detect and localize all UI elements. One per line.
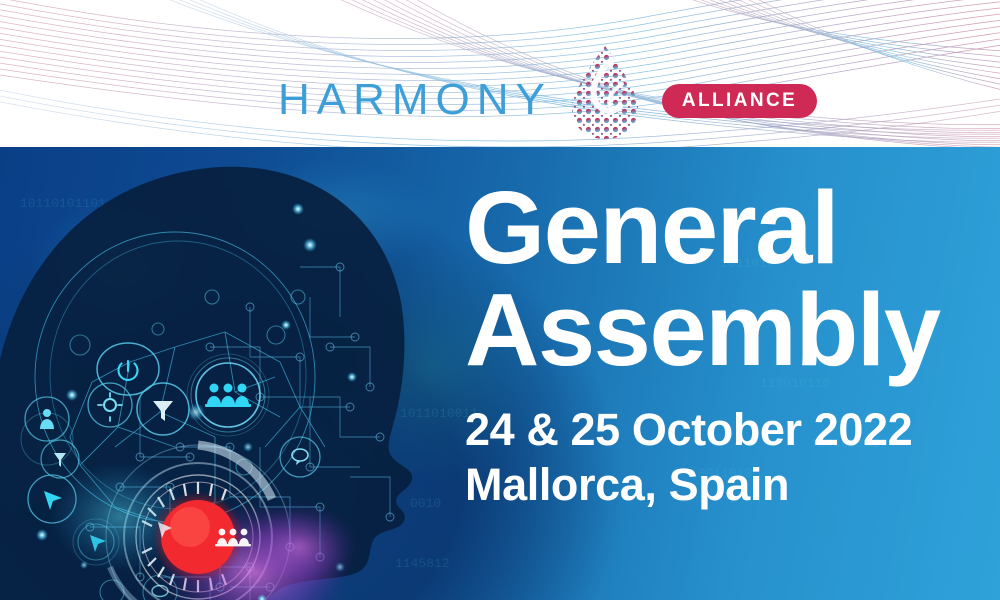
svg-text:0010: 0010	[410, 496, 441, 511]
svg-text:1145812: 1145812	[395, 556, 450, 571]
event-location: Mallorca, Spain	[465, 458, 985, 513]
poster-root: HARMONY	[0, 0, 1000, 600]
harmony-logo[interactable]: HARMONY	[278, 58, 817, 142]
hero-banner: 10110101101 0110100110 1011010 10010110 …	[0, 147, 1000, 600]
hero-text-block: General Assembly 24 & 25 October 2022 Ma…	[465, 177, 985, 513]
harmony-wordmark: HARMONY	[278, 78, 552, 122]
alliance-badge: ALLIANCE	[662, 84, 817, 118]
header-bar: HARMONY	[0, 0, 1000, 147]
svg-text:10110101101: 10110101101	[20, 196, 106, 211]
page-title-line-2: Assembly	[465, 279, 985, 381]
page-title-line-1: General	[465, 177, 985, 279]
event-date: 24 & 25 October 2022	[465, 403, 985, 458]
blood-droplet-dots-icon	[566, 44, 644, 142]
